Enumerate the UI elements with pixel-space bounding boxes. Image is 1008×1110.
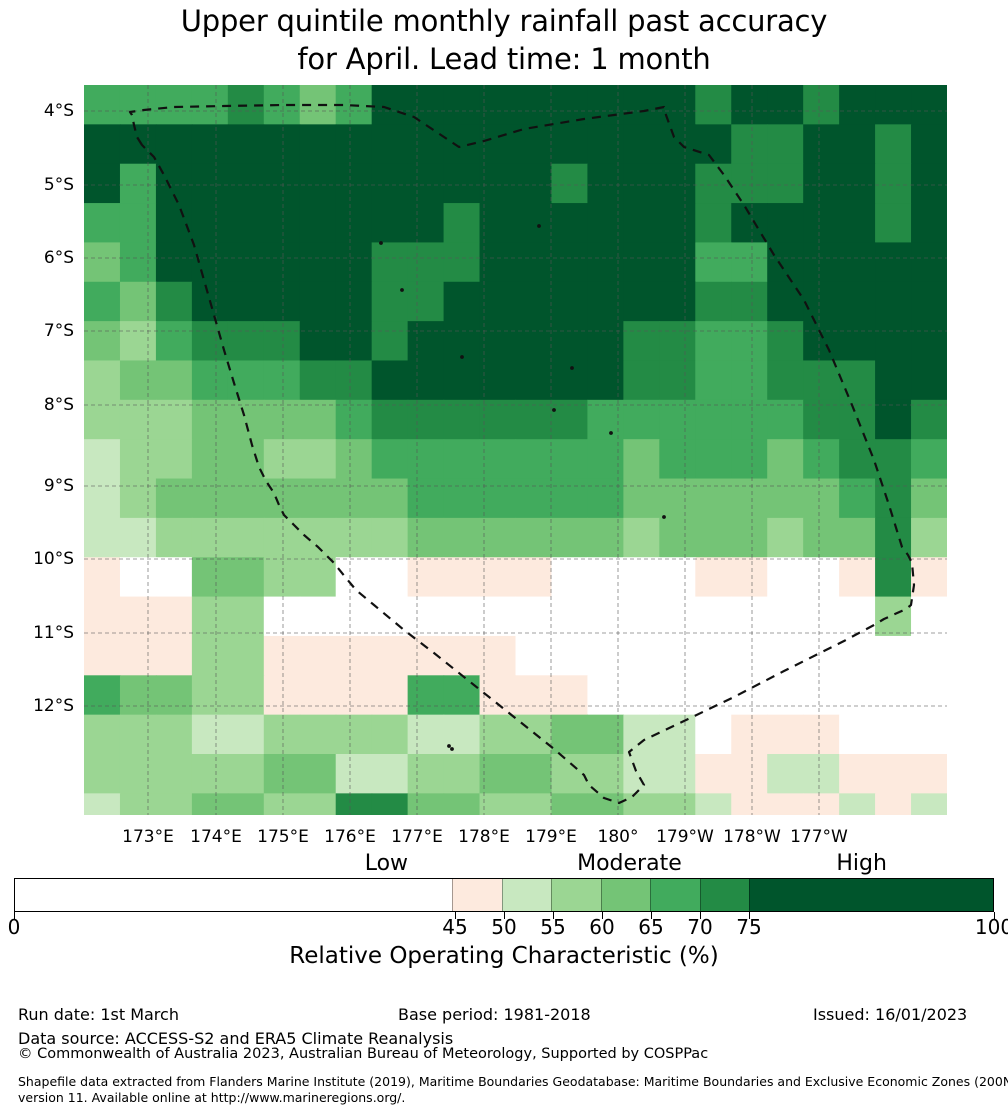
heatmap-cell [516,164,553,204]
heatmap-cell [731,557,768,597]
heatmap-cell [480,518,517,558]
heatmap-cell [731,400,768,440]
heatmap-cell [839,715,876,755]
heatmap-cell [408,321,445,361]
heatmap-cell [264,360,301,400]
heatmap-cell [623,203,660,243]
heatmap-cell [551,203,588,243]
latitude-tick-label: 11°S [0,623,74,643]
heatmap-cell [84,636,121,676]
heatmap-cell [156,597,193,637]
heatmap-cell [911,85,947,125]
heatmap-cell [444,164,481,204]
heatmap-cell [84,597,121,637]
heatmap-cell [372,439,409,479]
heatmap-cell [803,793,840,815]
heatmap-cell [372,282,409,322]
colorbar-segment [452,879,502,911]
heatmap-cell [551,400,588,440]
heatmap-cell [767,557,804,597]
heatmap-cell [228,400,265,440]
heatmap-cell [516,203,553,243]
heatmap-cell [659,282,696,322]
heatmap-cell [120,479,157,519]
heatmap-cell [587,124,624,164]
heatmap-cell [120,597,157,637]
heatmap-cell [336,282,373,322]
title-line-2: for April. Lead time: 1 month [0,40,1008,78]
heatmap-cell [695,479,732,519]
heatmap-cell [480,636,517,676]
issued-date-text: Issued: 16/01/2023 [813,1005,967,1024]
heatmap-cell [911,479,947,519]
island-marker [400,288,404,292]
heatmap-cell [408,479,445,519]
heatmap-cell [336,597,373,637]
colorbar-category-label: High [762,851,962,876]
heatmap-cell [84,439,121,479]
heatmap-cell [300,360,337,400]
heatmap-cell [623,557,660,597]
heatmap-cell [767,400,804,440]
heatmap-cell [911,203,947,243]
heatmap-cell [587,557,624,597]
colorbar-category-label: Moderate [529,851,729,876]
heatmap-cell [695,85,732,125]
island-marker [447,744,451,748]
heatmap-cell [120,793,157,815]
heatmap-cell [228,557,265,597]
heatmap-cell [731,715,768,755]
heatmap-cell [551,439,588,479]
heatmap-cell [300,715,337,755]
heatmap-cell [516,439,553,479]
heatmap-cell [767,321,804,361]
heatmap-cell [731,124,768,164]
heatmap-cell [264,242,301,282]
heatmap-cell [875,715,912,755]
heatmap-cell [444,360,481,400]
heatmap-cell [551,242,588,282]
heatmap-cell [480,479,517,519]
heatmap-cell [695,793,732,815]
heatmap-cell [264,321,301,361]
heatmap-cell [156,715,193,755]
heatmap-cell [516,85,553,125]
heatmap-cell [372,321,409,361]
heatmap-cell [623,85,660,125]
heatmap-cell [875,557,912,597]
heatmap-cell [875,124,912,164]
heatmap-cell [767,124,804,164]
heatmap-cell [480,85,517,125]
heatmap-cell [659,242,696,282]
heatmap-cell [264,203,301,243]
heatmap-cell [408,518,445,558]
heatmap-cell [444,793,481,815]
heatmap-cell [623,124,660,164]
island-marker [379,241,383,245]
heatmap-cell [372,636,409,676]
heatmap-cell [659,715,696,755]
heatmap-cell [695,675,732,715]
heatmap-cell [444,754,481,794]
heatmap-cell [875,203,912,243]
heatmap-cell [659,754,696,794]
colorbar-segment [749,879,993,911]
heatmap-cell [767,597,804,637]
heatmap-cell [480,793,517,815]
page-title: Upper quintile monthly rainfall past acc… [0,2,1008,78]
heatmap-cell [84,242,121,282]
heatmap-cell [120,754,157,794]
heatmap-cell [659,518,696,558]
heatmap-cell [911,675,947,715]
heatmap-cell [731,360,768,400]
heatmap-cell [875,518,912,558]
heatmap-cell [372,400,409,440]
heatmap-cell [444,85,481,125]
heatmap-cell [587,439,624,479]
heatmap-cell [156,400,193,440]
heatmap-cell [372,675,409,715]
heatmap-cell [839,754,876,794]
heatmap-cell [156,518,193,558]
heatmap-cell [300,164,337,204]
heatmap-cell [372,715,409,755]
heatmap-cell [767,164,804,204]
heatmap-cell [336,439,373,479]
heatmap-cell [120,203,157,243]
heatmap-cell [120,675,157,715]
heatmap-cell [84,793,121,815]
heatmap-cell [408,675,445,715]
heatmap-cell [767,203,804,243]
shapefile-credit-line-1: Shapefile data extracted from Flanders M… [18,1074,1008,1089]
heatmap-cell [300,439,337,479]
heatmap-cell [803,360,840,400]
heatmap-cell [300,597,337,637]
colorbar-segment [650,879,700,911]
heatmap-cell [120,518,157,558]
heatmap-cell [659,360,696,400]
heatmap-cell [911,597,947,637]
heatmap-cell [695,164,732,204]
heatmap-cell [264,439,301,479]
heatmap-cell [659,85,696,125]
heatmap-cell [587,164,624,204]
heatmap-cell [480,203,517,243]
heatmap-cell [336,754,373,794]
heatmap-cell [623,439,660,479]
heatmap-cell [659,675,696,715]
heatmap-cell [839,242,876,282]
heatmap-cell [192,203,229,243]
heatmap-cell [587,400,624,440]
heatmap-cell [84,479,121,519]
heatmap-cell [84,321,121,361]
heatmap-cell [264,557,301,597]
heatmap-cell [228,715,265,755]
heatmap-cell [336,479,373,519]
heatmap-cell [731,85,768,125]
heatmap-cell [84,85,121,125]
colorbar-segment [700,879,750,911]
heatmap-cell [480,242,517,282]
island-marker [450,747,454,751]
latitude-tick-label: 8°S [0,395,74,415]
heatmap-cell [516,360,553,400]
heatmap-cell [264,400,301,440]
heatmap-cell [551,715,588,755]
heatmap-cell [839,793,876,815]
heatmap-cell [623,282,660,322]
heatmap-cell [372,479,409,519]
heatmap-cell [767,85,804,125]
heatmap-cell [300,754,337,794]
heatmap-cell [516,557,553,597]
heatmap-cell [444,597,481,637]
heatmap-cell [731,597,768,637]
heatmap-cell [372,754,409,794]
heatmap-cell [623,321,660,361]
heatmap-cell [156,754,193,794]
heatmap-cell [803,479,840,519]
heatmap-cell [156,557,193,597]
heatmap-cell [587,479,624,519]
heatmap-cell [695,597,732,637]
colorbar-segment [502,879,552,911]
heatmap-cell [192,636,229,676]
latitude-tick-label: 6°S [0,248,74,268]
heatmap-cell [516,754,553,794]
heatmap-cell [444,675,481,715]
heatmap-cell [911,321,947,361]
heatmap-cell [695,203,732,243]
heatmap-cell [480,439,517,479]
heatmap-cell [192,164,229,204]
heatmap-cell [300,124,337,164]
heatmap-cell [623,400,660,440]
heatmap-cell [911,124,947,164]
heatmap-cell [84,164,121,204]
heatmap-cell [408,754,445,794]
heatmap-cell [875,282,912,322]
heatmap-cell [300,557,337,597]
colorbar-tick-label: 100 [964,915,1008,939]
heatmap-cell [336,636,373,676]
heatmap-cell [551,124,588,164]
heatmap-cell [336,400,373,440]
heatmap-cell [372,793,409,815]
heatmap-cell [408,164,445,204]
heatmap-cell [731,479,768,519]
heatmap-cell [300,400,337,440]
heatmap-cell [731,242,768,282]
heatmap-cell [623,479,660,519]
heatmap-cell [228,479,265,519]
heatmap-cell [228,282,265,322]
heatmap-cell [803,321,840,361]
heatmap-cell [767,793,804,815]
heatmap-cell [551,360,588,400]
heatmap-cell [336,518,373,558]
heatmap-cell [803,675,840,715]
heatmap-cell [156,479,193,519]
heatmap-cell [120,715,157,755]
heatmap-cell [300,321,337,361]
island-marker [460,355,464,359]
heatmap-cell [408,400,445,440]
heatmap-cell [408,124,445,164]
heatmap-cell [156,321,193,361]
heatmap-cell [408,242,445,282]
heatmap-cell [192,675,229,715]
heatmap-cell [875,675,912,715]
heatmap-cell [623,636,660,676]
heatmap-cell [192,400,229,440]
heatmap-cell [767,675,804,715]
heatmap-cell [767,518,804,558]
heatmap-cell [336,793,373,815]
heatmap-cell [516,518,553,558]
heatmap-cell [120,636,157,676]
heatmap-cell [228,321,265,361]
heatmap-cell [192,597,229,637]
heatmap-cell [731,321,768,361]
heatmap-cell [731,518,768,558]
heatmap-cell [516,479,553,519]
heatmap-cell [372,597,409,637]
heatmap-cell [839,675,876,715]
heatmap-cell [228,124,265,164]
heatmap-cell [839,479,876,519]
heatmap-cell [264,124,301,164]
heatmap-cell [875,400,912,440]
heatmap-cell [551,164,588,204]
heatmap-cell [408,793,445,815]
heatmap-cell [803,636,840,676]
heatmap-cell [336,321,373,361]
heatmap-cell [228,675,265,715]
heatmap-cell [408,557,445,597]
heatmap-cell [156,675,193,715]
heatmap-cell [803,715,840,755]
heatmap-cell [300,675,337,715]
colorbar-tick-label: 75 [719,915,779,939]
heatmap-cell [551,597,588,637]
heatmap-cell [372,518,409,558]
heatmap-cell [480,282,517,322]
heatmap-cell [120,242,157,282]
heatmap-cell [300,479,337,519]
heatmap-cell [623,518,660,558]
colorbar-title: Relative Operating Characteristic (%) [0,943,1008,969]
heatmap-cell [911,715,947,755]
heatmap-cell [911,557,947,597]
heatmap-cell [336,715,373,755]
colorbar-segment [601,879,651,911]
heatmap-cell [587,203,624,243]
heatmap-cell [767,282,804,322]
heatmap-cell [120,439,157,479]
heatmap-cell [264,597,301,637]
latitude-tick-label: 7°S [0,321,74,341]
heatmap-cell [408,360,445,400]
heatmap-cell [695,282,732,322]
heatmap-cell [551,479,588,519]
run-date-text: Run date: 1st March [18,1005,179,1024]
heatmap-cell [156,242,193,282]
heatmap-cell [264,715,301,755]
heatmap-cell [659,321,696,361]
heatmap-cell [300,242,337,282]
heatmap-cell [84,715,121,755]
heatmap-cell [659,164,696,204]
heatmap-cell [587,282,624,322]
heatmap-cell [228,793,265,815]
heatmap-cell [551,793,588,815]
heatmap-cell [695,439,732,479]
heatmap-cell [623,793,660,815]
colorbar-segment [551,879,601,911]
heatmap-cell [264,636,301,676]
heatmap-cell [839,636,876,676]
heatmap-cell [516,636,553,676]
latitude-tick-label: 5°S [0,175,74,195]
heatmap-cell [444,242,481,282]
heatmap-cell [156,85,193,125]
heatmap-cell [444,282,481,322]
heatmap-cell [587,242,624,282]
base-period-text: Base period: 1981-2018 [398,1005,591,1024]
heatmap-cell [264,675,301,715]
heatmap-cell [731,282,768,322]
heatmap-cell [120,164,157,204]
heatmap-cell [551,557,588,597]
heatmap-cell [120,557,157,597]
heatmap-cell [695,754,732,794]
heatmap-cell [587,85,624,125]
heatmap-cell [803,400,840,440]
heatmap-cell [695,360,732,400]
heatmap-cell [803,164,840,204]
island-marker [662,515,666,519]
title-line-1: Upper quintile monthly rainfall past acc… [0,2,1008,40]
heatmap-cell [839,597,876,637]
heatmap-cell [120,321,157,361]
heatmap-cell [264,164,301,204]
heatmap-cell [480,597,517,637]
heatmap-cell [659,124,696,164]
island-marker [570,366,574,370]
heatmap-cell [875,164,912,204]
heatmap-cell [803,203,840,243]
heatmap-cell [551,282,588,322]
heatmap-cell [192,557,229,597]
heatmap-cell [803,557,840,597]
heatmap-cell [228,203,265,243]
longitude-tick-label: 177°W [774,827,864,847]
heatmap-cell [516,400,553,440]
heatmap-cell [623,164,660,204]
heatmap-cell [372,203,409,243]
heatmap-cell [372,360,409,400]
heatmap-cell [875,360,912,400]
heatmap-cell [84,754,121,794]
heatmap-cell [911,360,947,400]
heatmap-cell [372,242,409,282]
